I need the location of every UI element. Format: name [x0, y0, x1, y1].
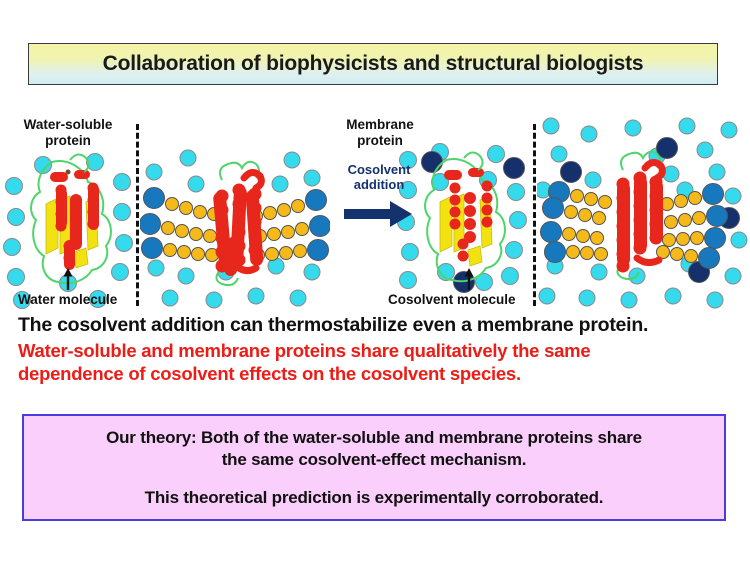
- alpha-helices: [50, 170, 99, 270]
- panel-label-line2: protein: [8, 133, 128, 149]
- transmembrane-protein-structure: [617, 152, 664, 279]
- cosolvent-molecule-pointer-icon: [464, 268, 474, 290]
- cosolvent-addition-annotation: Cosolvent addition: [340, 162, 418, 234]
- caption-water-molecule: Water molecule: [18, 292, 117, 307]
- panel-label-water-soluble-protein: Water-soluble protein: [8, 117, 128, 148]
- statement-black: The cosolvent addition can thermostabili…: [18, 314, 734, 337]
- statement-red-line-1: Water-soluble and membrane proteins shar…: [18, 340, 734, 362]
- slide-title-banner: Collaboration of biophysicists and struc…: [28, 43, 718, 85]
- page-title: Collaboration of biophysicists and struc…: [103, 52, 644, 76]
- lipid-bilayer-left: [541, 182, 612, 263]
- membrane-protein-illustration: [140, 100, 330, 315]
- panel-membrane-protein-with-cosolvent: [537, 100, 750, 315]
- conclusion-line-1: Our theory: Both of the water-soluble an…: [40, 427, 708, 449]
- lipid-bilayer-right: [657, 184, 728, 269]
- figure-area: Water-soluble protein: [0, 100, 750, 315]
- panel-divider-right: [533, 124, 536, 306]
- alpha-helices: [444, 168, 493, 262]
- transmembrane-protein-structure: [213, 162, 264, 285]
- caption-cosolvent-molecule: Cosolvent molecule: [388, 292, 516, 307]
- panel-membrane-protein: Membrane protein: [140, 100, 330, 315]
- statement-red-line-2: dependence of cosolvent effects on the c…: [18, 363, 734, 385]
- cosolvent-addition-line1: Cosolvent: [340, 162, 418, 177]
- water-molecule-pointer-icon: [63, 268, 73, 290]
- panel-label-line1: Water-soluble: [8, 117, 128, 133]
- conclusion-line-2: the same cosolvent-effect mechanism.: [40, 449, 708, 471]
- conclusion-line-3: This theoretical prediction is experimen…: [40, 487, 708, 509]
- lipid-bilayer-left: [140, 188, 221, 262]
- membrane-protein-cosolvent-illustration: [537, 100, 750, 315]
- conclusion-box: Our theory: Both of the water-soluble an…: [22, 414, 726, 521]
- statement-block: The cosolvent addition can thermostabili…: [18, 314, 734, 385]
- right-arrow-icon: [342, 199, 416, 229]
- panel-divider-left: [136, 124, 139, 306]
- cosolvent-addition-line2: addition: [340, 177, 418, 192]
